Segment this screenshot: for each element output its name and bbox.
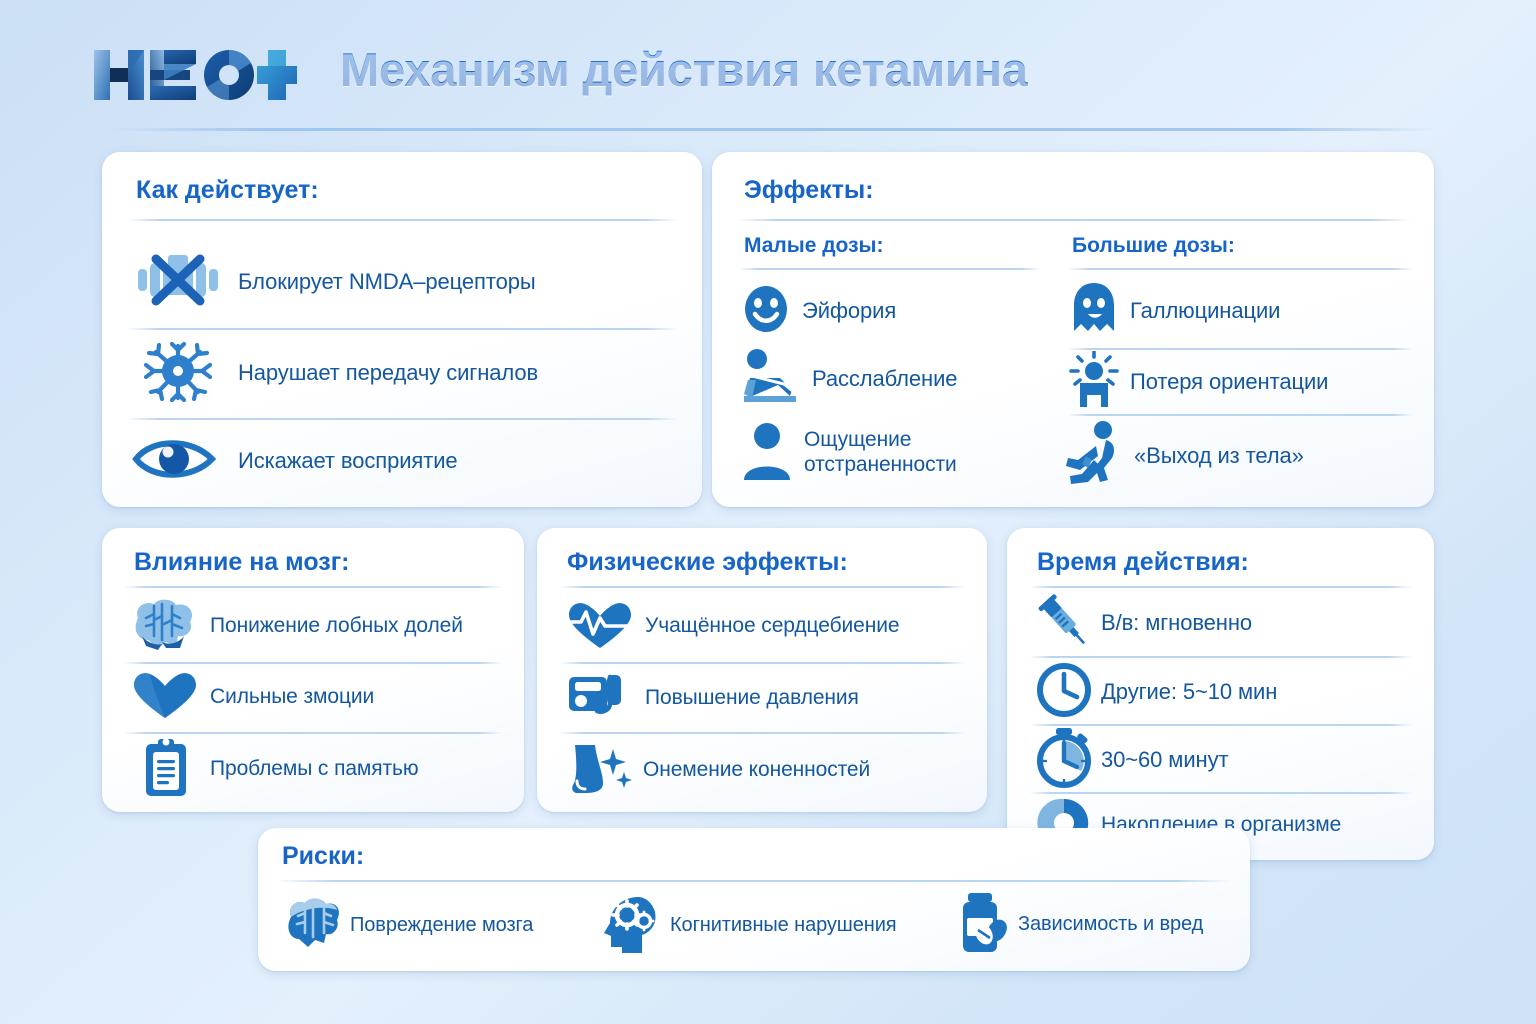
list-item[interactable]: Ощущение отстраненности <box>740 414 1050 492</box>
brain-damage-icon <box>282 895 342 958</box>
card-duration: Время действия: В/в: мгновенно <box>1007 528 1434 860</box>
divider <box>1029 656 1412 658</box>
card-how-it-works-title: Как действует: <box>136 176 319 205</box>
card-physical-effects-title: Физические эффекты: <box>567 548 848 577</box>
card-risks-title: Риски: <box>282 842 364 871</box>
list-item-label: Другие: 5~10 мин <box>1101 679 1277 705</box>
list-item[interactable]: Онемение коненностей <box>563 738 973 802</box>
list-item[interactable]: Повреждение мозга <box>282 888 602 964</box>
card-how-it-works: Как действует: Блокирует NMDA–рецепторы <box>102 152 702 507</box>
head-gears-icon <box>602 893 662 960</box>
list-item-label: Сильные змоции <box>210 685 374 710</box>
list-item[interactable]: Понижение лобных долей <box>128 594 508 658</box>
list-item-label: Зависимость и вред <box>1018 913 1203 937</box>
list-item-label: 30~60 минут <box>1101 747 1228 773</box>
eye-icon <box>130 432 226 491</box>
list-item-label: Когнитивные нарушения <box>670 914 897 938</box>
divider <box>1068 414 1413 416</box>
divider <box>1068 268 1413 270</box>
running-person-icon <box>1062 420 1124 493</box>
list-item[interactable]: Зависимость и вред <box>952 886 1242 964</box>
divider <box>126 219 678 221</box>
dizzy-person-icon <box>1068 351 1120 414</box>
numb-foot-icon <box>563 739 637 802</box>
card-duration-title: Время действия: <box>1037 548 1249 577</box>
list-item-label: «Выход из тела» <box>1134 443 1304 469</box>
divider <box>1029 586 1412 588</box>
list-item[interactable]: Эйфория <box>740 280 1050 342</box>
list-item-label: Повреждение мозга <box>350 914 533 938</box>
header-divider <box>108 128 1438 131</box>
divider <box>559 586 965 588</box>
divider <box>126 328 678 330</box>
list-item-label: Проблемы с памятью <box>210 757 419 782</box>
list-item[interactable]: Когнитивные нарушения <box>602 888 952 964</box>
heart-pulse-icon <box>563 596 637 657</box>
clipboard-icon <box>128 736 202 803</box>
syringe-icon <box>1033 590 1095 657</box>
list-item[interactable]: В/в: мгновенно <box>1033 590 1418 656</box>
person-bust-icon <box>740 420 794 487</box>
smiley-icon <box>740 283 792 340</box>
divider <box>126 418 678 420</box>
subtitle-high-dose: Большие дозы: <box>1072 234 1235 258</box>
blood-pressure-monitor-icon <box>563 667 637 730</box>
list-item-label: Галлюцинации <box>1130 298 1280 324</box>
page-title: Механизм действия кетамина <box>340 42 1028 97</box>
divider <box>736 219 1412 221</box>
list-item-label: Нарушает передачу сигналов <box>238 360 538 386</box>
list-item[interactable]: Блокирует NMDA–рецепторы <box>130 242 682 322</box>
card-effects: Эффекты: Малые дозы: Эйфория Расслаблени <box>712 152 1434 507</box>
list-item-label: Понижение лобных долей <box>210 614 463 639</box>
divider <box>559 732 965 734</box>
reclining-person-icon <box>740 346 802 413</box>
list-item[interactable]: Потеря ориентации <box>1068 350 1418 414</box>
divider <box>276 880 1232 882</box>
list-item-label: Блокирует NMDA–рецепторы <box>238 269 536 295</box>
list-item[interactable]: «Выход из тела» <box>1062 418 1417 494</box>
clock-icon <box>1033 661 1095 724</box>
list-item[interactable]: 30~60 минут <box>1033 728 1418 792</box>
stopwatch-icon <box>1033 727 1095 794</box>
list-item[interactable]: Проблемы с памятью <box>128 736 508 802</box>
list-item[interactable]: Повышение давления <box>563 666 973 730</box>
list-item-label: Учащённое сердцебиение <box>645 614 899 639</box>
list-item-label: Эйфория <box>802 298 896 324</box>
list-item-label: Ощущение отстраненности <box>804 428 957 478</box>
divider <box>124 586 502 588</box>
divider <box>740 268 1040 270</box>
list-item-label: Расслабление <box>812 366 957 392</box>
list-item[interactable]: Другие: 5~10 мин <box>1033 660 1418 724</box>
list-item[interactable]: Галлюцинации <box>1068 280 1418 342</box>
list-item-label: Повышение давления <box>645 686 859 711</box>
brand-logo-icon <box>92 44 297 106</box>
brand-logo <box>92 44 297 106</box>
list-item-label: Искажает восприятие <box>238 448 458 474</box>
neuron-icon <box>130 340 226 407</box>
ghost-icon <box>1068 281 1120 342</box>
list-item[interactable]: Расслабление <box>740 342 1050 416</box>
list-item[interactable]: Сильные змоции <box>128 666 508 728</box>
brain-icon <box>128 596 202 657</box>
divider <box>124 662 502 664</box>
list-item-label-line1: Ощущение <box>804 428 911 451</box>
card-brain-impact-title: Влияние на мозг: <box>134 548 349 577</box>
divider <box>559 662 965 664</box>
heart-icon <box>128 668 202 727</box>
subtitle-low-dose: Малые дозы: <box>744 234 883 258</box>
list-item-label-line2: отстраненности <box>804 453 957 476</box>
page-header: Механизм действия кетамина <box>0 0 1536 135</box>
card-risks: Риски: Повреждение мозга <box>258 828 1250 971</box>
card-brain-impact: Влияние на мозг: Понижение лобных долей <box>102 528 524 812</box>
blocked-receptor-icon <box>130 251 226 314</box>
list-item[interactable]: Учащённое сердцебиение <box>563 594 973 658</box>
card-physical-effects: Физические эффекты: Учащённое сердцебиен… <box>537 528 987 812</box>
divider <box>1029 792 1412 794</box>
list-item-label: Онемение коненностей <box>643 758 870 783</box>
card-effects-title: Эффекты: <box>744 176 874 205</box>
pill-bottle-icon <box>952 892 1010 959</box>
divider <box>124 732 502 734</box>
list-item-label: Потеря ориентации <box>1130 369 1328 395</box>
list-item[interactable]: Нарушает передачу сигналов <box>130 334 682 412</box>
list-item[interactable]: Искажает восприятие <box>130 426 682 496</box>
list-item-label: В/в: мгновенно <box>1101 610 1252 636</box>
